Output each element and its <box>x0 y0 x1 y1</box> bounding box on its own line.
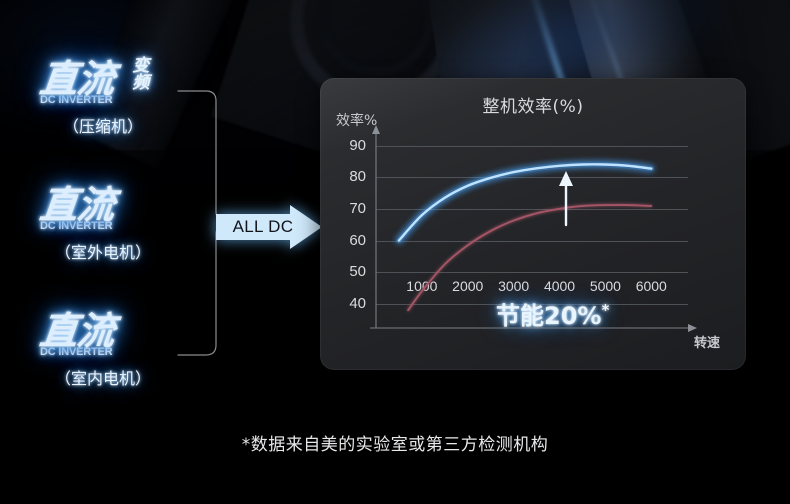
y-tick-label: 60 <box>326 232 366 249</box>
right-arrow-icon <box>216 205 322 249</box>
dc-feature-list: 直流 变频 DC INVERTER （压缩机） 直流 DC INVERTER （… <box>26 60 186 420</box>
dc-inverter-logo: 直流 DC INVERTER <box>26 312 114 358</box>
y-tick-label: 80 <box>326 168 366 185</box>
y-tick-label: 90 <box>326 137 366 154</box>
feature-caption: （压缩机） <box>28 113 178 137</box>
y-tick-label: 40 <box>326 295 366 312</box>
series-line-alldc <box>399 164 651 240</box>
footnote-text: *数据来自美的实验室或第三方检测机构 <box>0 430 790 455</box>
feature-item-compressor: 直流 变频 DC INVERTER （压缩机） <box>26 60 186 180</box>
series-line-baseline <box>408 205 651 310</box>
up-arrow-annotation-icon <box>558 169 574 225</box>
annotation-superscript: * <box>601 301 609 319</box>
y-tick-label: 50 <box>326 263 366 280</box>
promo-banner: 直流 变频 DC INVERTER （压缩机） 直流 DC INVERTER （… <box>0 0 790 504</box>
logo-chinese-text: 直流 <box>38 186 116 224</box>
x-axis-title: 转速 <box>694 332 720 351</box>
x-axis-line <box>370 322 700 334</box>
feature-caption: （室内电机） <box>28 365 178 389</box>
efficiency-chart-panel: 整机效率(%) 效率% 转速 908070605040 100020003000… <box>320 78 746 370</box>
all-dc-arrow-badge: ALL DC <box>216 205 322 249</box>
logo-chinese-text: 直流 <box>38 312 116 350</box>
logo-vertical-text: 变频 <box>129 56 146 90</box>
logo-chinese-text: 直流 <box>38 60 116 98</box>
dc-inverter-logo: 直流 变频 DC INVERTER <box>26 60 114 106</box>
feature-item-indoor-motor: 直流 DC INVERTER （室内电机） <box>26 312 186 432</box>
y-axis-line <box>370 124 382 330</box>
y-tick-label: 70 <box>326 200 366 217</box>
feature-caption: （室外电机） <box>28 239 178 263</box>
dc-inverter-logo: 直流 DC INVERTER <box>26 186 114 232</box>
chart-title: 整机效率(%) <box>320 92 746 117</box>
feature-item-outdoor-motor: 直流 DC INVERTER （室外电机） <box>26 186 186 306</box>
